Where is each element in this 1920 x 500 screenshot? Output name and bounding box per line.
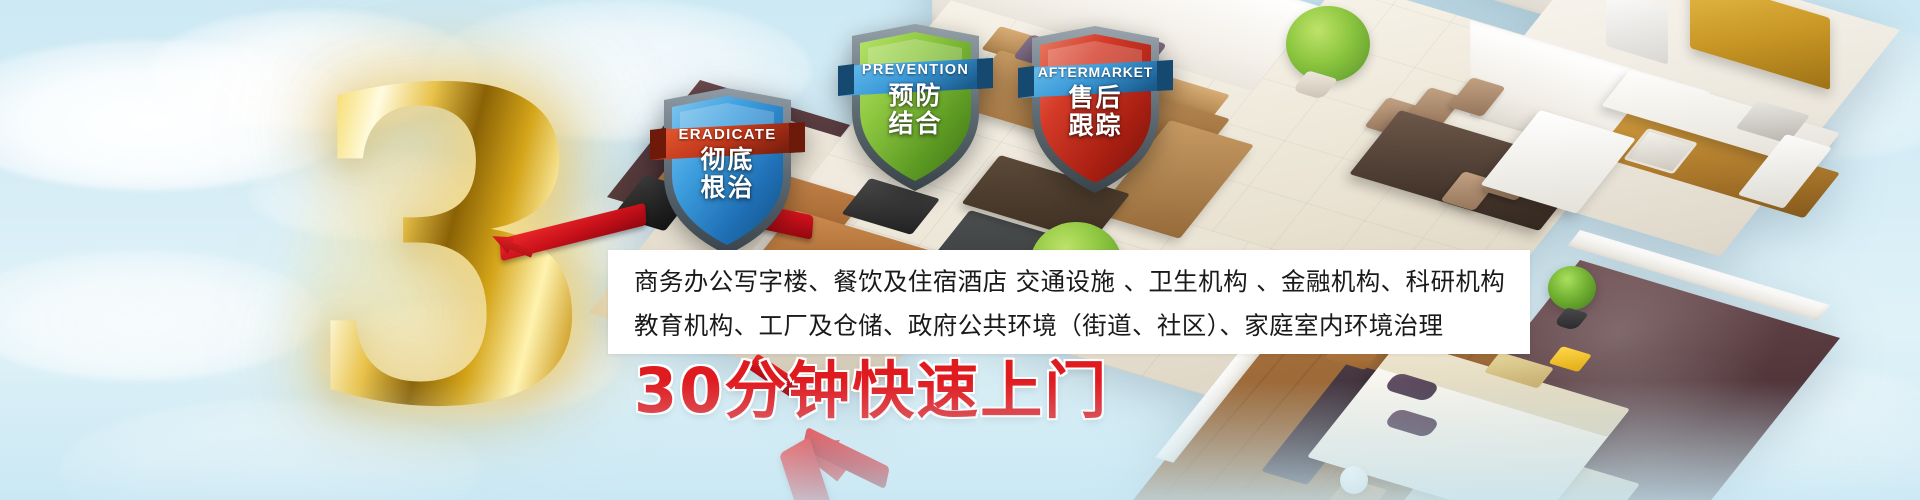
badge-prevention[interactable]: PREVENTION 预防结合 (838, 20, 993, 195)
shield-aftermarket-icon (1018, 22, 1173, 197)
shield-eradicate-icon (650, 84, 805, 259)
service-scope-line-1: 商务办公写字楼、餐饮及住宿酒店 交通设施 、卫生机构 、金融机构、科研机构 (634, 260, 1504, 304)
headline-text: 30分钟快速上门 (634, 355, 1108, 427)
service-scope-panel: 商务办公写字楼、餐饮及住宿酒店 交通设施 、卫生机构 、金融机构、科研机构 教育… (608, 250, 1530, 354)
shield-prevention-icon (838, 20, 993, 195)
promo-banner: 3 (0, 0, 1920, 500)
service-scope-line-2: 教育机构、工厂及仓储、政府公共环境（街道、社区）、家庭室内环境治理 (634, 304, 1504, 348)
badge-aftermarket[interactable]: AFTERMARKET 售后跟踪 (1018, 22, 1173, 197)
badge-eradicate[interactable]: ERADICATE 彻底根治 (650, 84, 805, 259)
